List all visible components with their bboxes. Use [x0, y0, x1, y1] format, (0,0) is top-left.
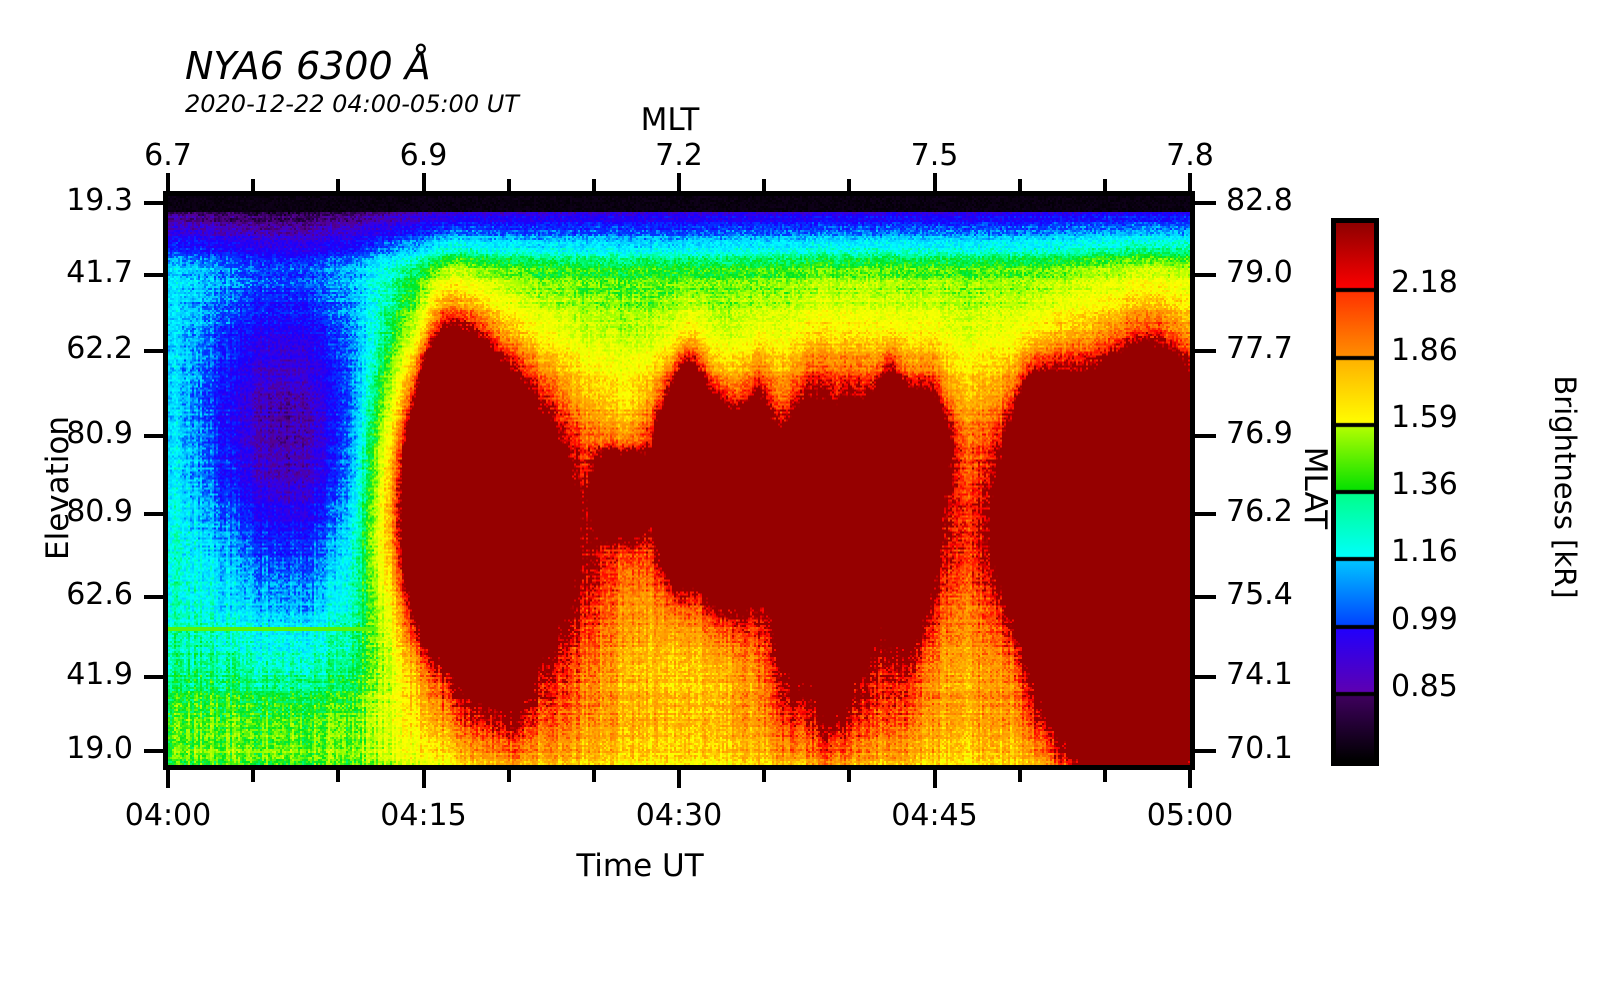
y-right-tick [1194, 273, 1216, 277]
axis-top-line [163, 191, 1195, 196]
x-tick-minor [847, 770, 851, 782]
y-left-tick [144, 349, 166, 353]
mlt-tick-label-2: 7.2 [599, 138, 759, 173]
x-tick-minor [677, 770, 681, 788]
x-tick-minor [592, 770, 596, 782]
mlt-tick-label-4: 7.8 [1110, 138, 1270, 173]
colorbar-tick-label-3: 1.36 [1391, 467, 1458, 502]
y-right-tick [1194, 595, 1216, 599]
colorbar-gradient [1336, 223, 1374, 761]
mlt-tick-label-1: 6.9 [344, 138, 504, 173]
x-axis-top-title: MLT [560, 102, 780, 138]
x-tick-minor [336, 770, 340, 782]
x-axis-bottom-title: Time UT [520, 848, 760, 884]
mlt-tick-minor [592, 179, 596, 191]
y-left-tick-label-7: 19.0 [0, 731, 133, 766]
y-right-tick-label-4: 76.2 [1226, 494, 1293, 529]
keogram-canvas [168, 196, 1190, 765]
y-right-tick-label-6: 74.1 [1226, 657, 1293, 692]
mlt-tick-minor [847, 179, 851, 191]
y-right-tick-label-2: 77.7 [1226, 331, 1293, 366]
y-right-tick-label-5: 75.4 [1226, 577, 1293, 612]
mlt-tick-minor [1103, 179, 1107, 191]
y-right-tick-label-7: 70.1 [1226, 731, 1293, 766]
mlt-tick-minor [251, 179, 255, 191]
x-tick-minor [933, 770, 937, 788]
y-left-tick [144, 434, 166, 438]
mlt-tick-minor [1018, 179, 1022, 191]
colorbar-tick-label-0: 2.18 [1391, 265, 1458, 300]
y-left-tick [144, 595, 166, 599]
x-tick-minor [166, 770, 170, 788]
x-tick-label-2: 04:30 [599, 798, 759, 833]
y-left-tick-label-2: 62.2 [0, 331, 133, 366]
y-left-tick-label-0: 19.3 [0, 183, 133, 218]
y-right-tick-label-0: 82.8 [1226, 183, 1293, 218]
x-tick-label-1: 04:15 [344, 798, 504, 833]
mlt-tick-minor [422, 173, 426, 191]
colorbar-tick-label-1: 1.86 [1391, 333, 1458, 368]
y-left-tick [144, 675, 166, 679]
colorbar-tick-label-2: 1.59 [1391, 400, 1458, 435]
x-tick-label-4: 05:00 [1110, 798, 1270, 833]
keogram-plot-area [168, 196, 1190, 765]
x-tick-minor [507, 770, 511, 782]
x-tick-minor [762, 770, 766, 782]
colorbar-tick-label-4: 1.16 [1391, 534, 1458, 569]
page-title: NYA6 6300 Å [185, 44, 431, 88]
y-left-tick [144, 201, 166, 205]
y-left-tick-label-5: 62.6 [0, 577, 133, 612]
colorbar-tick-label-5: 0.99 [1391, 602, 1458, 637]
mlt-tick-minor [933, 173, 937, 191]
y-left-tick [144, 749, 166, 753]
y-axis-left-title: Elevation [40, 378, 76, 598]
y-left-tick-label-6: 41.9 [0, 657, 133, 692]
x-tick-minor [251, 770, 255, 782]
colorbar [1331, 218, 1379, 766]
y-right-tick [1194, 675, 1216, 679]
mlt-tick-minor [336, 179, 340, 191]
mlt-tick-minor [1188, 173, 1192, 191]
y-left-tick-label-4: 80.9 [0, 494, 133, 529]
colorbar-title: Brightness [kR] [1548, 322, 1582, 652]
mlt-tick-minor [762, 179, 766, 191]
mlt-tick-label-0: 6.7 [88, 138, 248, 173]
y-axis-right-title: MLAT [1297, 378, 1333, 598]
y-right-tick-label-1: 79.0 [1226, 255, 1293, 290]
y-left-tick [144, 512, 166, 516]
y-right-tick [1194, 434, 1216, 438]
y-right-tick [1194, 749, 1216, 753]
mlt-tick-minor [166, 173, 170, 191]
x-tick-minor [1018, 770, 1022, 782]
mlt-tick-minor [677, 173, 681, 191]
page-subtitle: 2020-12-22 04:00-05:00 UT [185, 90, 519, 118]
colorbar-tick-label-6: 0.85 [1391, 669, 1458, 704]
x-tick-minor [1103, 770, 1107, 782]
x-tick-label-0: 04:00 [88, 798, 248, 833]
y-right-tick-label-3: 76.9 [1226, 416, 1293, 451]
mlt-tick-label-3: 7.5 [855, 138, 1015, 173]
x-tick-minor [422, 770, 426, 788]
mlt-tick-minor [507, 179, 511, 191]
y-left-tick [144, 273, 166, 277]
y-right-tick [1194, 201, 1216, 205]
x-tick-minor [1188, 770, 1192, 788]
y-right-tick [1194, 512, 1216, 516]
y-left-tick-label-1: 41.7 [0, 255, 133, 290]
y-left-tick-label-3: 80.9 [0, 416, 133, 451]
x-tick-label-3: 04:45 [855, 798, 1015, 833]
y-right-tick [1194, 349, 1216, 353]
